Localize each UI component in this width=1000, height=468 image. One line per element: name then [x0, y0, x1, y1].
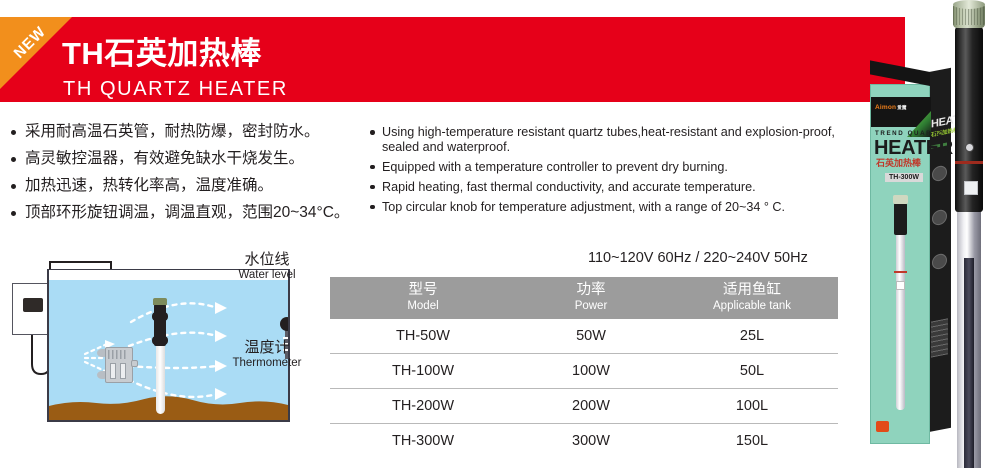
heater-glass-tube	[156, 344, 165, 414]
pump-slot	[110, 363, 116, 379]
column-header-tank-cn: 适用鱼缸	[666, 282, 838, 299]
column-header-power: 功率 Power	[516, 277, 666, 319]
box-top-band	[871, 97, 931, 127]
box-side-circle-icon	[932, 209, 947, 227]
feature-item-cn: 加热迅速，热转化率高，温度准确。	[10, 178, 360, 194]
features-list-en: Using high-temperature resistant quartz …	[370, 125, 850, 220]
table-row: TH-50W 50W 25L	[330, 319, 838, 354]
thermometer-label-cn: 温度计	[222, 340, 312, 355]
feature-item-cn: 高灵敏控温器，有效避免缺水干烧发生。	[10, 151, 360, 167]
column-header-tank: 适用鱼缸 Applicable tank	[666, 277, 838, 319]
feature-item-en: Using high-temperature resistant quartz …	[370, 125, 850, 154]
box-rod-label	[896, 281, 905, 290]
box-artwork-heater-rod	[893, 195, 908, 410]
cell-power: 50W	[516, 319, 666, 354]
pump-nozzle	[131, 360, 138, 367]
feature-item-en: Rapid heating, fast thermal conductivity…	[370, 180, 850, 195]
photo-red-line	[955, 161, 983, 164]
box-front-panel: Aimon爱魔 TREND QUARTZ HEATER 石英加热棒 TH-300…	[870, 84, 930, 444]
cell-tank: 25L	[666, 319, 838, 354]
new-ribbon: NEW	[0, 17, 72, 89]
specifications-table: 型号 Model 功率 Power 适用鱼缸 Applicable tank T…	[330, 277, 838, 458]
box-heater-text: HEATER	[874, 138, 953, 158]
voltage-note: 110~120V 60Hz / 220~240V 50Hz	[588, 251, 808, 266]
table-row: TH-100W 100W 50L	[330, 354, 838, 389]
cell-tank: 50L	[666, 354, 838, 389]
box-rod-red-line	[894, 271, 907, 273]
thermometer-bulb	[280, 317, 290, 331]
box-product-cn-text: 石英加热棒	[876, 159, 921, 168]
feature-item-cn: 顶部环形旋钮调温，调温直观，范围20~34°C。	[10, 205, 360, 221]
cell-power: 100W	[516, 354, 666, 389]
feature-item-en: Equipped with a temperature controller t…	[370, 160, 850, 175]
brand-name: Aimon	[875, 104, 896, 111]
brand-name-cn: 爱魔	[897, 105, 906, 110]
thermometer-label-en: Thermometer	[222, 358, 312, 370]
cell-model: TH-300W	[330, 424, 516, 459]
product-packaging-box: HEATER 石英加热棒 Aimon爱魔 TREND QUARTZ HEATER…	[870, 72, 944, 444]
heater-rod-in-tank	[152, 298, 168, 414]
heater-ring	[152, 312, 168, 321]
column-header-power-cn: 功率	[516, 282, 666, 299]
brand-logo: Aimon爱魔	[875, 105, 907, 112]
column-header-model-en: Model	[330, 299, 516, 313]
page-title-en: TH QUARTZ HEATER	[63, 79, 288, 99]
box-top-face	[870, 60, 930, 86]
box-rod-body	[894, 203, 907, 235]
cell-power: 200W	[516, 389, 666, 424]
heater-product-photo	[946, 3, 990, 468]
cell-tank: 150L	[666, 424, 838, 459]
box-rod-knob	[893, 195, 908, 204]
feature-item-en: Top circular knob for temperature adjust…	[370, 200, 850, 215]
table-row: TH-300W 300W 150L	[330, 424, 838, 459]
box-rod-tube	[896, 233, 905, 410]
cell-tank: 100L	[666, 389, 838, 424]
heater-knob-cap	[153, 298, 167, 305]
certification-badge-icon	[876, 421, 889, 432]
page-title-cn: TH石英加热棒	[62, 38, 262, 69]
box-side-circle-icon	[932, 165, 947, 183]
column-header-model-cn: 型号	[330, 282, 516, 299]
water-level-label: 水位线 Water level	[222, 252, 312, 282]
cell-model: TH-100W	[330, 354, 516, 389]
header-banner: TH石英加热棒 TH QUARTZ HEATER	[0, 17, 905, 102]
product-datasheet-page: TH石英加热棒 TH QUARTZ HEATER NEW 采用耐高温石英管，耐热…	[0, 0, 1000, 468]
photo-product-label	[964, 181, 978, 195]
photo-indicator-light	[965, 143, 974, 152]
cell-model: TH-200W	[330, 389, 516, 424]
aquarium-diagram: 水位线 Water level 温度计 Thermometer	[0, 252, 310, 442]
heater-ring	[152, 336, 168, 345]
feature-item-cn: 采用耐高温石英管，耐热防爆，密封防水。	[10, 124, 360, 140]
product-photo-group: HEATER 石英加热棒 Aimon爱魔 TREND QUARTZ HEATER…	[862, 58, 1000, 458]
photo-knob-top	[953, 0, 985, 9]
water-level-label-cn: 水位线	[222, 252, 312, 267]
box-side-circle-icon	[932, 253, 947, 271]
filter-pump-icon	[97, 345, 139, 385]
cell-model: TH-50W	[330, 319, 516, 354]
column-header-power-en: Power	[516, 299, 666, 313]
cell-power: 300W	[516, 424, 666, 459]
box-model-text: TH-300W	[885, 173, 923, 182]
pump-slot	[120, 363, 126, 379]
table-row: TH-200W 200W 100L	[330, 389, 838, 424]
column-header-model: 型号 Model	[330, 277, 516, 319]
thermometer-label: 温度计 Thermometer	[222, 340, 312, 370]
water-level-label-en: Water level	[222, 270, 312, 282]
table-header-row: 型号 Model 功率 Power 适用鱼缸 Applicable tank	[330, 277, 838, 319]
features-list-cn: 采用耐高温石英管，耐热防爆，密封防水。 高灵敏控温器，有效避免缺水干烧发生。 加…	[10, 124, 360, 232]
photo-heating-element	[964, 258, 974, 468]
column-header-tank-en: Applicable tank	[666, 299, 838, 313]
pump-grill	[108, 350, 128, 359]
